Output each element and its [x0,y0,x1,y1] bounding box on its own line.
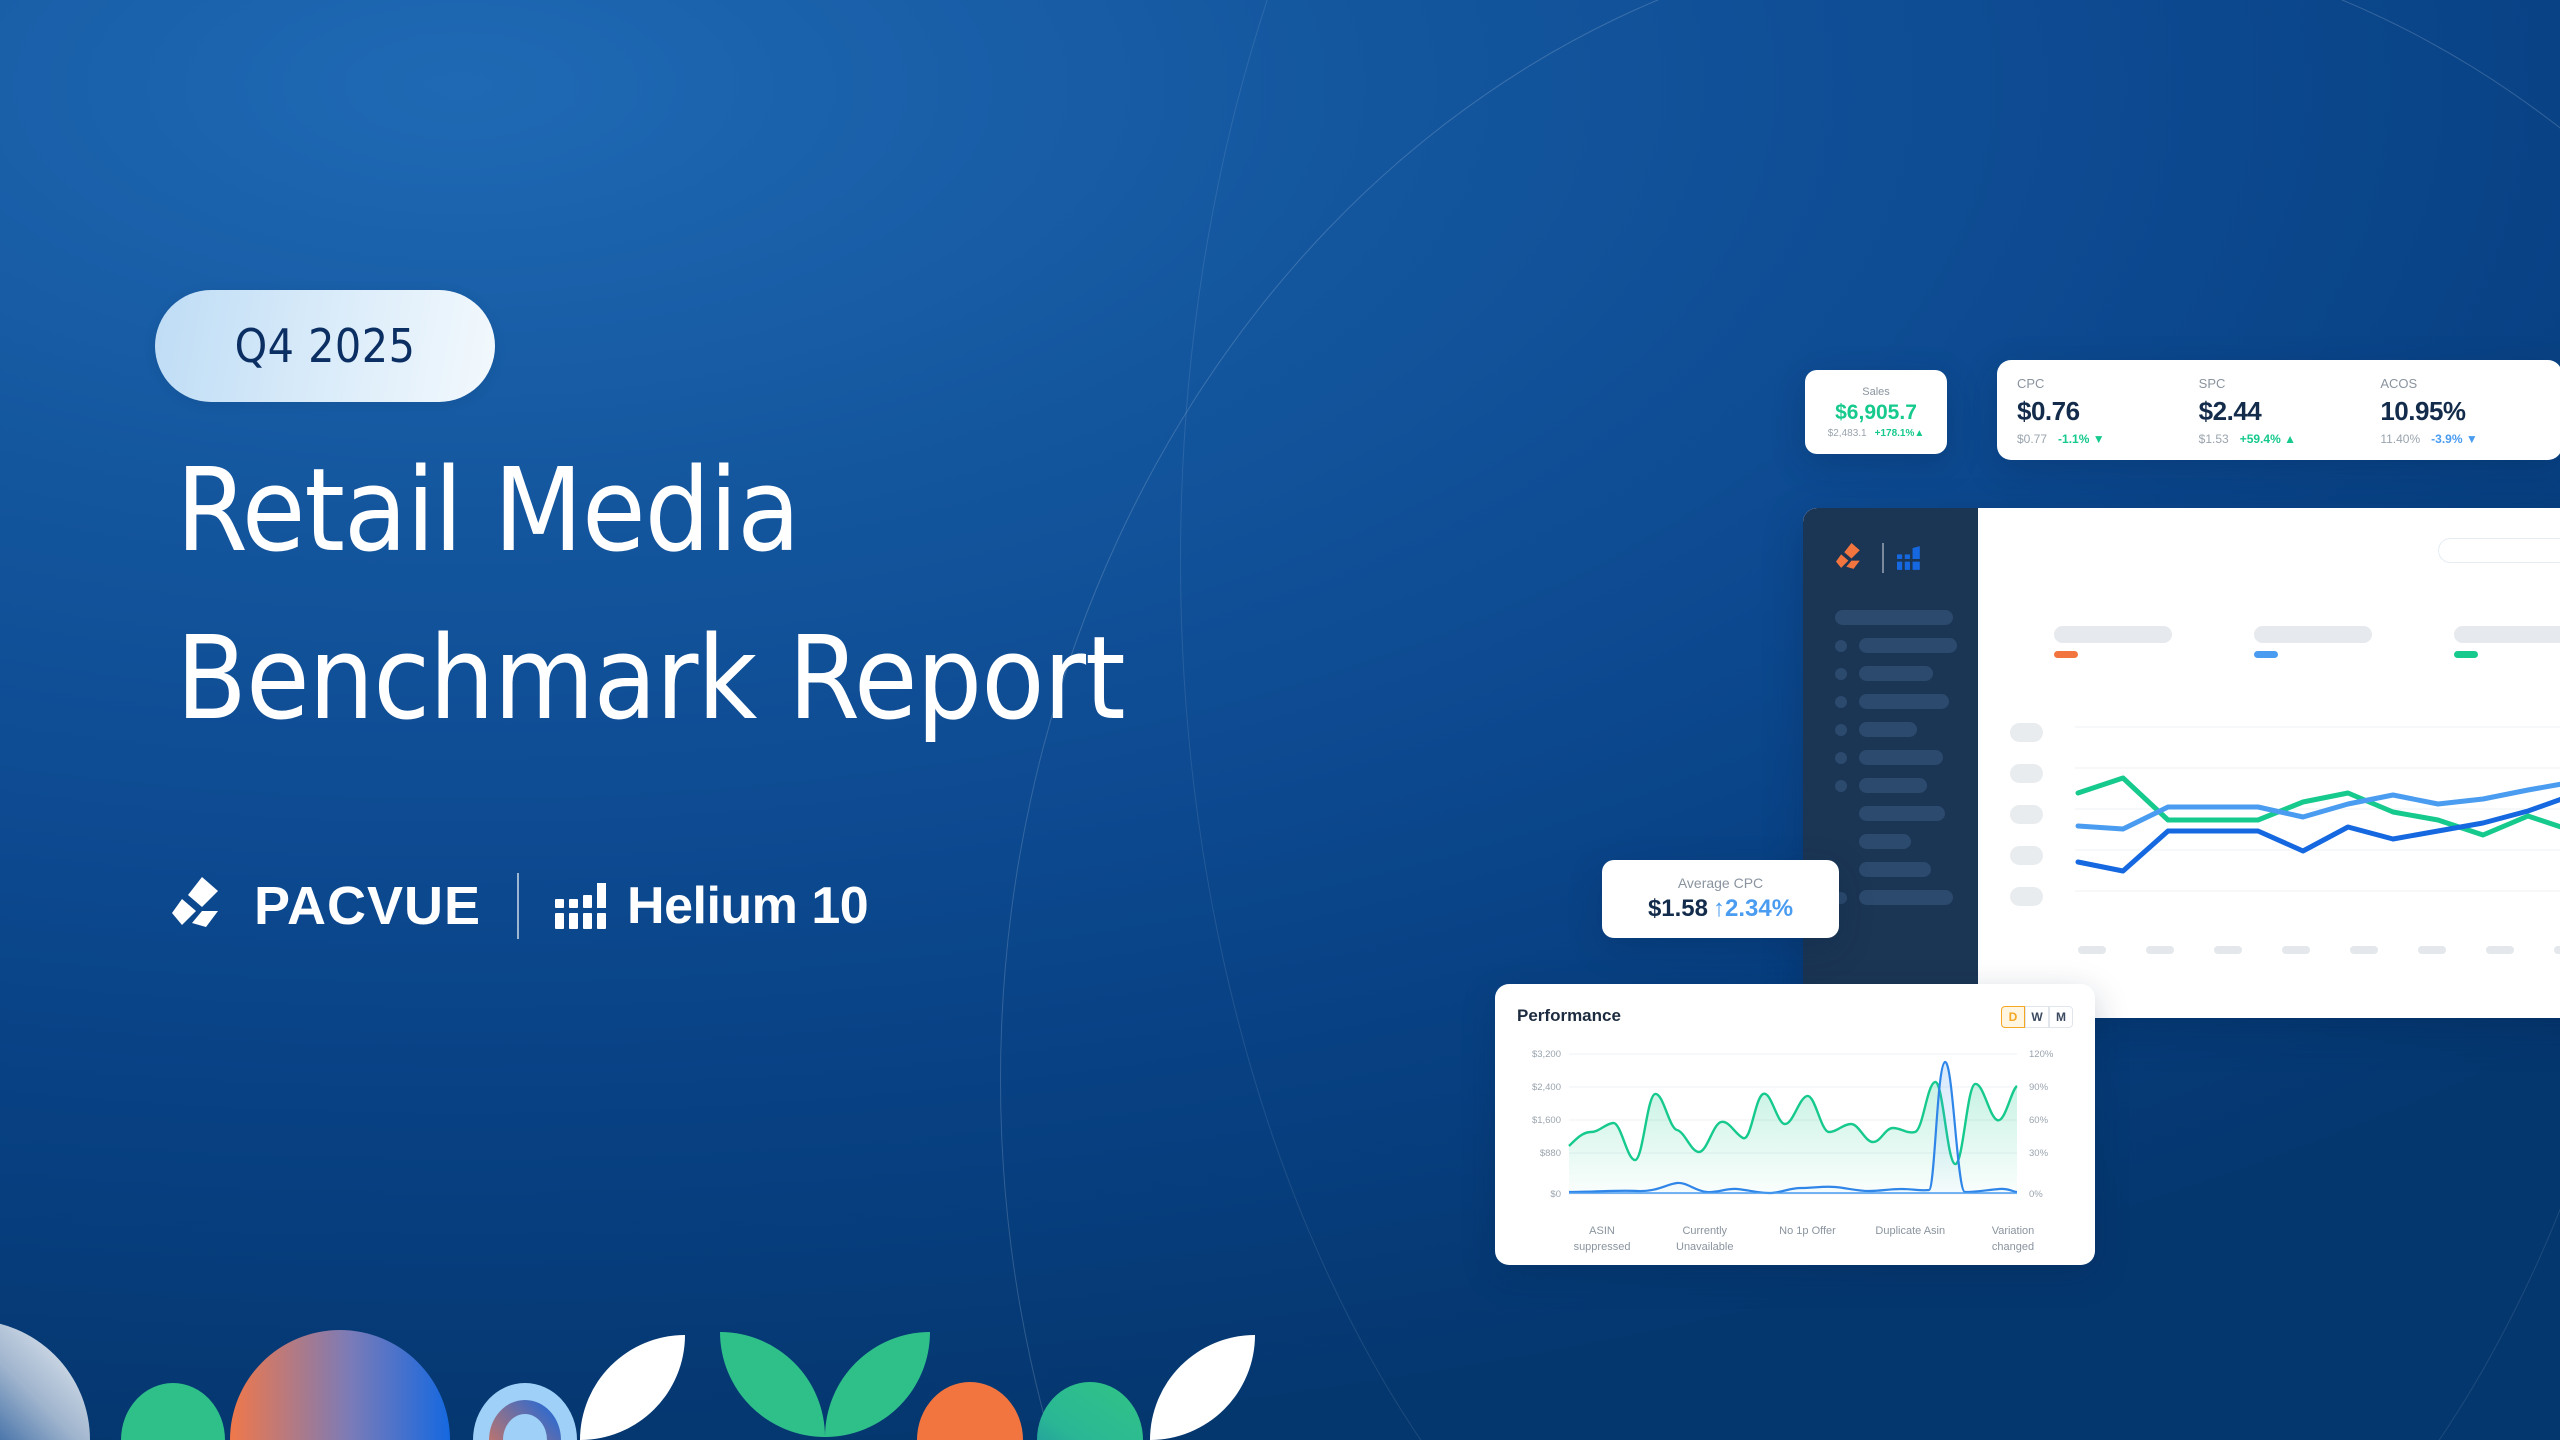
quarter-badge-label: Q4 2025 [235,319,416,373]
svg-text:0%: 0% [2029,1189,2043,1200]
search-input[interactable] [2438,538,2560,563]
x-label-1: Currently Unavailable [1663,1224,1747,1256]
x-label-4: Variation changed [1971,1224,2055,1256]
kpi-value-row: $1.58 ↑2.34% [1648,895,1793,923]
kpi-sub: $1.53 +59.4% ▲ [2199,432,2381,446]
helium10-mark-icon [1897,546,1925,570]
sidebar-item-label-placeholder [1835,610,1953,625]
x-label-0: ASIN suppressed [1560,1224,1644,1256]
line-series-blue [2078,781,2560,871]
kpi-sub: 11.40% -3.9% ▼ [2380,432,2560,446]
granularity-option-w[interactable]: W [2025,1006,2049,1028]
x-tick-placeholder [2418,946,2446,954]
svg-text:$880: $880 [1540,1148,1561,1159]
metric-tab-1[interactable] [2254,626,2454,658]
metric-tab-label-placeholder [2254,626,2372,643]
sidebar-item-label-placeholder [1859,778,1927,793]
x-tick-placeholder [2486,946,2514,954]
kpi-delta: -1.1% ▼ [2058,432,2105,446]
kpi-label: ACOS [2380,376,2560,391]
kpi-label: CPC [2017,376,2199,391]
kpi-card-acos[interactable]: ACOS 10.95% 11.40% -3.9% ▼ [2380,376,2560,460]
kpi-delta: +59.4% ▲ [2240,432,2296,446]
sidebar-item-9[interactable] [1835,862,1978,877]
kpi-strip[interactable]: CPC $0.76 $0.77 -1.1% ▼ SPC $2.44 $1.53 … [1997,360,2560,460]
pacvue-wordmark: PACVUE [254,875,481,937]
quarter-badge: Q4 2025 [155,290,495,402]
petal-leaf-green-left [720,1332,825,1437]
x-tick-placeholder [2214,946,2242,954]
kpi-value: $2.44 [2199,396,2381,427]
kpi-label: SPC [2199,376,2381,391]
sidebar-item-label-placeholder [1859,890,1953,905]
page-title-line-2: Benchmark Report [176,596,1176,764]
sidebar-bullet-icon [1835,780,1847,792]
petal-ellipse-green [121,1383,225,1440]
sidebar-item-label-placeholder [1859,638,1957,653]
petal-ellipse-teal [1037,1382,1143,1440]
performance-card-header: Performance D W M [1517,1006,2073,1028]
kpi-previous: 11.40% [2380,432,2420,446]
petal-dome-gradient [230,1330,450,1440]
sidebar-item-label-placeholder [1859,834,1911,849]
kpi-value: $6,905.7 [1835,401,1917,425]
page-title: Retail Media Benchmark Report [176,428,1176,764]
svg-text:120%: 120% [2029,1049,2054,1060]
sidebar-item-7[interactable] [1835,806,1978,821]
helium10-wordmark: Helium 10 [627,876,868,936]
pacvue-logo: PACVUE [172,875,481,937]
sidebar-item-5[interactable] [1835,750,1978,765]
petal-leaf-white [580,1335,685,1440]
metric-tab-accent-green [2454,651,2478,658]
sidebar-item-label-placeholder [1859,694,1949,709]
metric-tab-0[interactable] [2054,626,2254,658]
kpi-delta: -3.9% ▼ [2431,432,2478,446]
metric-tab-2[interactable] [2454,626,2560,658]
petal-leaf-white-2 [1150,1335,1255,1440]
kpi-delta: +178.1%▲ [1875,428,1925,439]
performance-chart-x-labels: ASIN suppressed Currently Unavailable No… [1560,1224,2055,1256]
svg-text:$3,200: $3,200 [1532,1049,1561,1060]
hero-column: Q4 2025 Retail Media Benchmark Report PA… [0,0,1200,1440]
metric-tab-row[interactable] [2054,626,2560,658]
sidebar-item-0[interactable] [1835,610,1978,625]
kpi-card-spc[interactable]: SPC $2.44 $1.53 +59.4% ▲ [2199,376,2381,460]
svg-text:$2,400: $2,400 [1532,1082,1561,1093]
sidebar-bullet-icon [1835,752,1847,764]
kpi-value: $1.58 [1648,895,1708,923]
kpi-delta: ↑2.34% [1713,895,1793,923]
sidebar-item-2[interactable] [1835,666,1978,681]
x-tick-placeholder [2554,946,2560,954]
kpi-card-sales[interactable]: Sales $6,905.7 $2,483.1 +178.1%▲ [1805,370,1947,454]
logo-divider [517,873,519,939]
helium10-logo: Helium 10 [555,876,868,936]
sidebar-bullet-icon [1835,640,1847,652]
granularity-option-m[interactable]: M [2049,1006,2073,1028]
svg-text:$1,600: $1,600 [1532,1115,1561,1126]
sidebar-item-4[interactable] [1835,722,1978,737]
performance-card[interactable]: Performance D W M $3,20 [1495,984,2095,1265]
kpi-sub: $0.77 -1.1% ▼ [2017,432,2199,446]
logo-lockup-row: PACVUE Helium 10 [172,868,868,944]
x-tick-placeholder [2282,946,2310,954]
kpi-value: 10.95% [2380,396,2560,427]
svg-text:$0: $0 [1550,1189,1561,1200]
x-tick-placeholder [2350,946,2378,954]
sidebar-item-label-placeholder [1859,806,1945,821]
kpi-card-average-cpc[interactable]: Average CPC $1.58 ↑2.34% [1602,860,1839,938]
performance-chart-plot: $3,200 $2,400 $1,600 $880 $0 120% 90% 60… [1517,1046,2073,1218]
sidebar-bullet-icon [1835,696,1847,708]
line-series-light-blue [2078,763,2560,829]
kpi-value: $0.76 [2017,396,2199,427]
sidebar-item-label-placeholder [1859,750,1943,765]
x-tick-placeholder [2078,946,2106,954]
svg-text:60%: 60% [2029,1115,2049,1126]
metric-tab-accent-blue [2254,651,2278,658]
helium10-mark-icon [555,883,609,929]
sidebar-item-1[interactable] [1835,638,1978,653]
petal-quarter-arc-silver [0,1320,90,1440]
sidebar-item-3[interactable] [1835,694,1978,709]
pacvue-mark-icon [1835,543,1869,573]
kpi-label: Sales [1862,386,1890,398]
kpi-previous: $1.53 [2199,432,2229,446]
x-label-2: No 1p Offer [1766,1224,1850,1256]
x-label-3: Duplicate Asin [1868,1224,1952,1256]
kpi-card-cpc[interactable]: CPC $0.76 $0.77 -1.1% ▼ [2017,376,2199,460]
dashboard-bar-chart [2078,986,2560,1018]
sidebar-item-label-placeholder [1859,722,1917,737]
app-brand-row [1803,534,1978,582]
sidebar-item-10[interactable] [1835,890,1978,905]
app-sidebar[interactable] [1803,508,1978,1018]
app-main-panel [1978,508,2560,1018]
petal-ring-blue [473,1383,577,1440]
granularity-toggle[interactable]: D W M [2001,1006,2073,1028]
svg-text:90%: 90% [2029,1082,2049,1093]
sidebar-item-label-placeholder [1859,862,1931,877]
page-title-line-1: Retail Media [176,428,1176,596]
pacvue-mark-icon [172,877,234,935]
petal-ellipse-orange [917,1382,1023,1440]
sidebar-bullet-icon [1835,724,1847,736]
svg-text:30%: 30% [2029,1148,2049,1159]
x-tick-placeholder [2146,946,2174,954]
dashboard-app-window[interactable] [1803,508,2560,1018]
kpi-previous: $0.77 [2017,432,2047,446]
sidebar-item-8[interactable] [1835,834,1978,849]
decorative-petal-row [0,1290,1300,1440]
kpi-sub: $2,483.1 +178.1%▲ [1828,428,1925,439]
kpi-label: Average CPC [1678,875,1763,891]
metric-tab-accent-orange [2054,651,2078,658]
petal-leaf-green-right [825,1332,930,1437]
dashboard-line-chart [2010,723,2560,908]
sidebar-item-label-placeholder [1859,666,1933,681]
line-chart-x-axis-placeholders [2078,946,2560,954]
sidebar-bullet-icon [1835,668,1847,680]
kpi-previous: $2,483.1 [1828,428,1867,439]
granularity-option-d[interactable]: D [2001,1006,2025,1028]
metric-tab-label-placeholder [2454,626,2560,643]
sidebar-item-6[interactable] [1835,778,1978,793]
metric-tab-label-placeholder [2054,626,2172,643]
brand-divider [1882,543,1884,573]
performance-card-title: Performance [1517,1006,1621,1026]
